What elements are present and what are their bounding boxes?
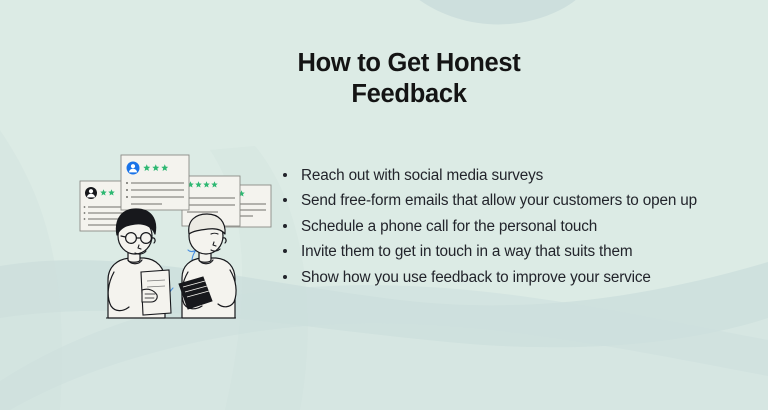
list-item: Reach out with social media surveys <box>281 163 717 188</box>
list-item: Schedule a phone call for the personal t… <box>281 214 717 239</box>
list-item: Send free-form emails that allow your cu… <box>281 188 717 213</box>
list-item: Invite them to get in touch in a way tha… <box>281 239 717 264</box>
review-card-top-center <box>121 155 189 210</box>
customer-reviews-illustration <box>78 138 274 328</box>
paper-document <box>141 270 171 315</box>
bullet-point-icon <box>283 224 287 228</box>
bullet-point-icon <box>283 198 287 202</box>
list-item-label: Schedule a phone call for the personal t… <box>301 218 597 235</box>
list-item-label: Show how you use feedback to improve you… <box>301 269 651 286</box>
list-item-label: Reach out with social media surveys <box>301 167 543 184</box>
feedback-tips-list: Reach out with social media surveys Send… <box>281 163 717 290</box>
bullet-point-icon <box>283 249 287 253</box>
page-title: How to Get Honest Feedback <box>232 48 586 110</box>
page-title-line-2: Feedback <box>232 79 586 110</box>
page-title-line-1: How to Get Honest <box>232 48 586 79</box>
list-item: Show how you use feedback to improve you… <box>281 265 717 290</box>
list-item-label: Send free-form emails that allow your cu… <box>301 192 697 209</box>
bullet-point-icon <box>283 275 287 279</box>
bullet-point-icon <box>283 173 287 177</box>
slide-canvas: How to Get Honest Feedback Reach out wit… <box>0 0 768 410</box>
list-item-label: Invite them to get in touch in a way tha… <box>301 243 632 260</box>
